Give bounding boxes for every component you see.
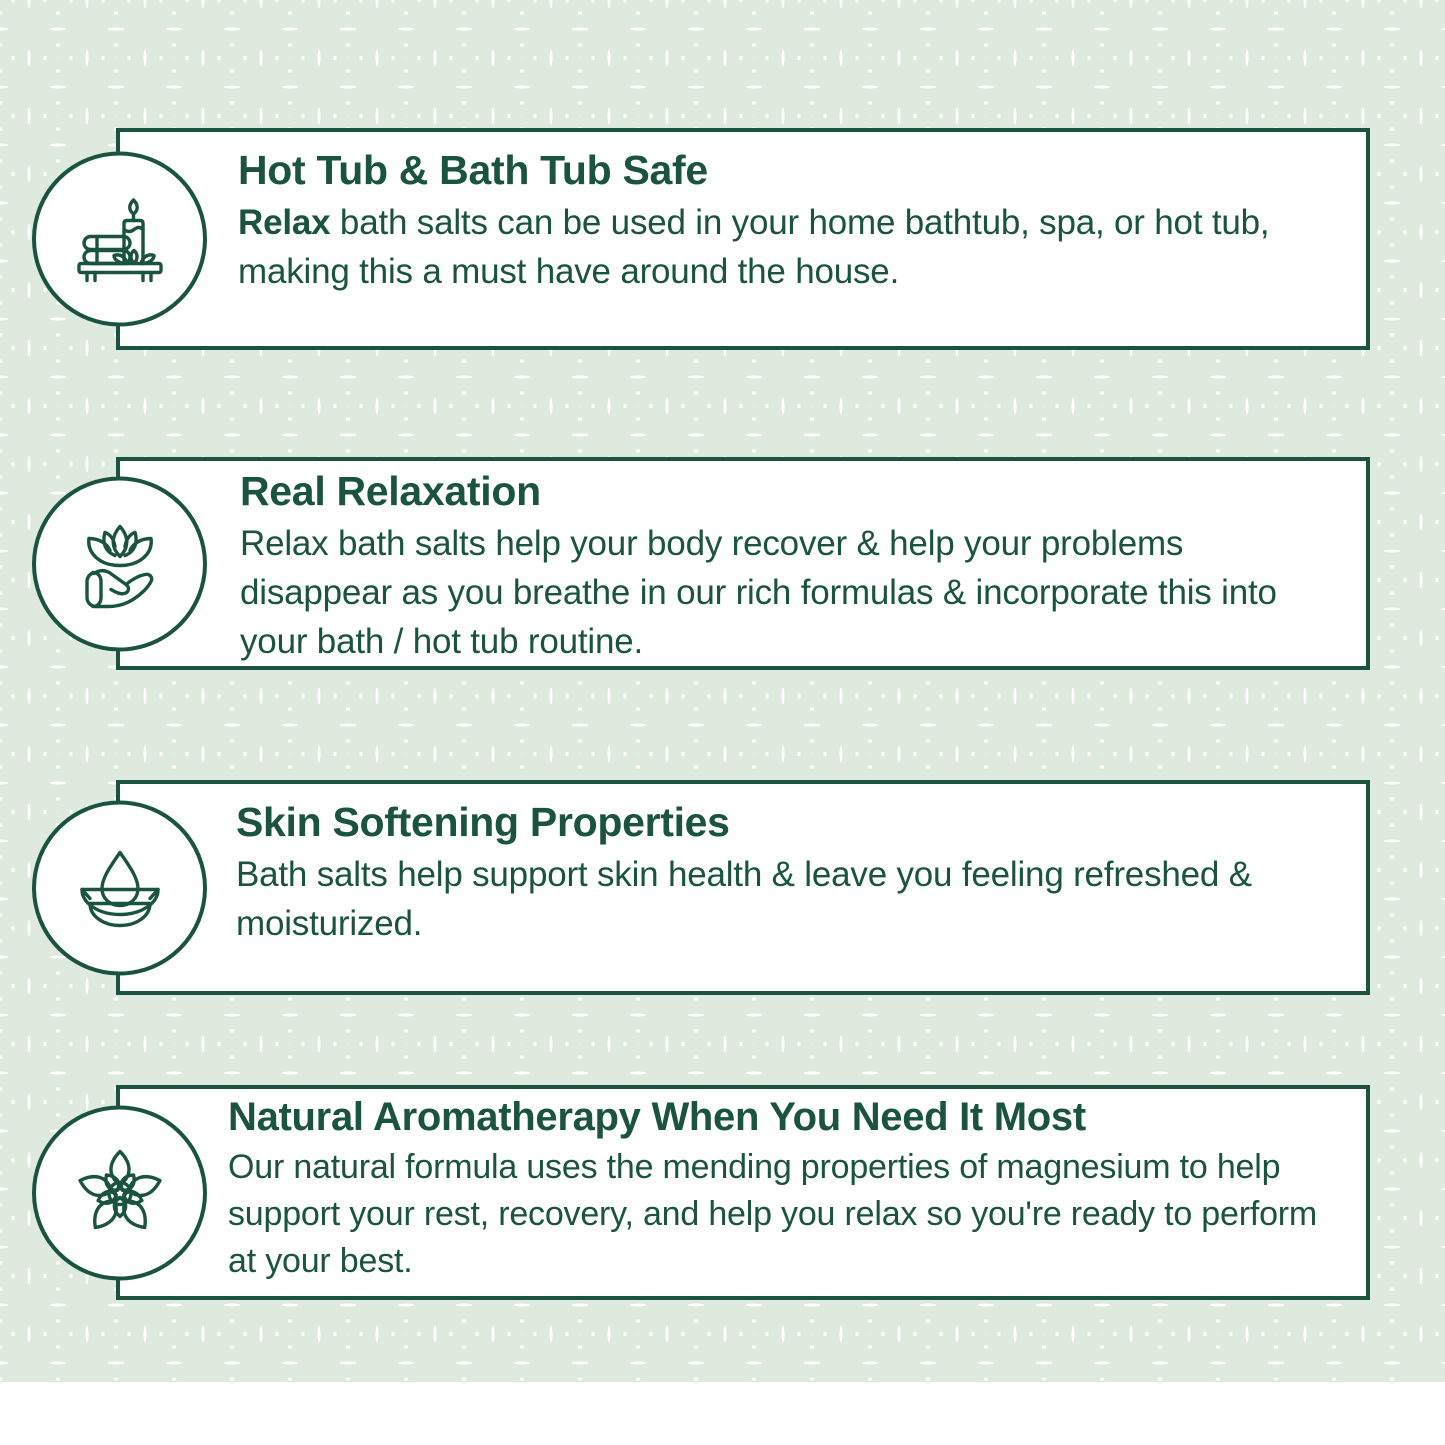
card-description-lead: Relax <box>238 203 330 242</box>
card-description-rest: Our natural formula uses the mending pro… <box>228 1148 1317 1280</box>
card-description: Our natural formula uses the mending pro… <box>228 1144 1340 1285</box>
card-title: Hot Tub & Bath Tub Safe <box>238 148 1340 194</box>
card-title: Natural Aromatherapy When You Need It Mo… <box>228 1095 1340 1140</box>
card-description: Relax bath salts help your body recover … <box>240 519 1340 666</box>
feature-card-hot-tub-bath-tub-safe: Hot Tub & Bath Tub Safe Relax bath salts… <box>116 128 1370 350</box>
card-title: Real Relaxation <box>240 469 1340 515</box>
feature-card-skin-softening-properties: Skin Softening Properties Bath salts hel… <box>116 780 1370 995</box>
card-description-rest: Bath salts help support skin health & le… <box>236 855 1252 943</box>
card-content: Natural Aromatherapy When You Need It Mo… <box>120 1089 1366 1303</box>
card-description: Bath salts help support skin health & le… <box>236 850 1340 948</box>
card-description-rest: Relax bath salts help your body recover … <box>240 524 1277 661</box>
feature-card-real-relaxation: Real Relaxation Relax bath salts help yo… <box>116 457 1370 670</box>
card-description: Relax bath salts can be used in your hom… <box>238 198 1340 296</box>
card-content: Real Relaxation Relax bath salts help yo… <box>120 461 1366 684</box>
infographic-page: Hot Tub & Bath Tub Safe Relax bath salts… <box>0 0 1445 1445</box>
card-content: Hot Tub & Bath Tub Safe Relax bath salts… <box>120 132 1366 314</box>
feature-card-natural-aromatherapy: Natural Aromatherapy When You Need It Mo… <box>116 1085 1370 1300</box>
card-content: Skin Softening Properties Bath salts hel… <box>120 784 1366 966</box>
card-title: Skin Softening Properties <box>236 800 1340 846</box>
card-description-rest: bath salts can be used in your home bath… <box>238 203 1269 291</box>
